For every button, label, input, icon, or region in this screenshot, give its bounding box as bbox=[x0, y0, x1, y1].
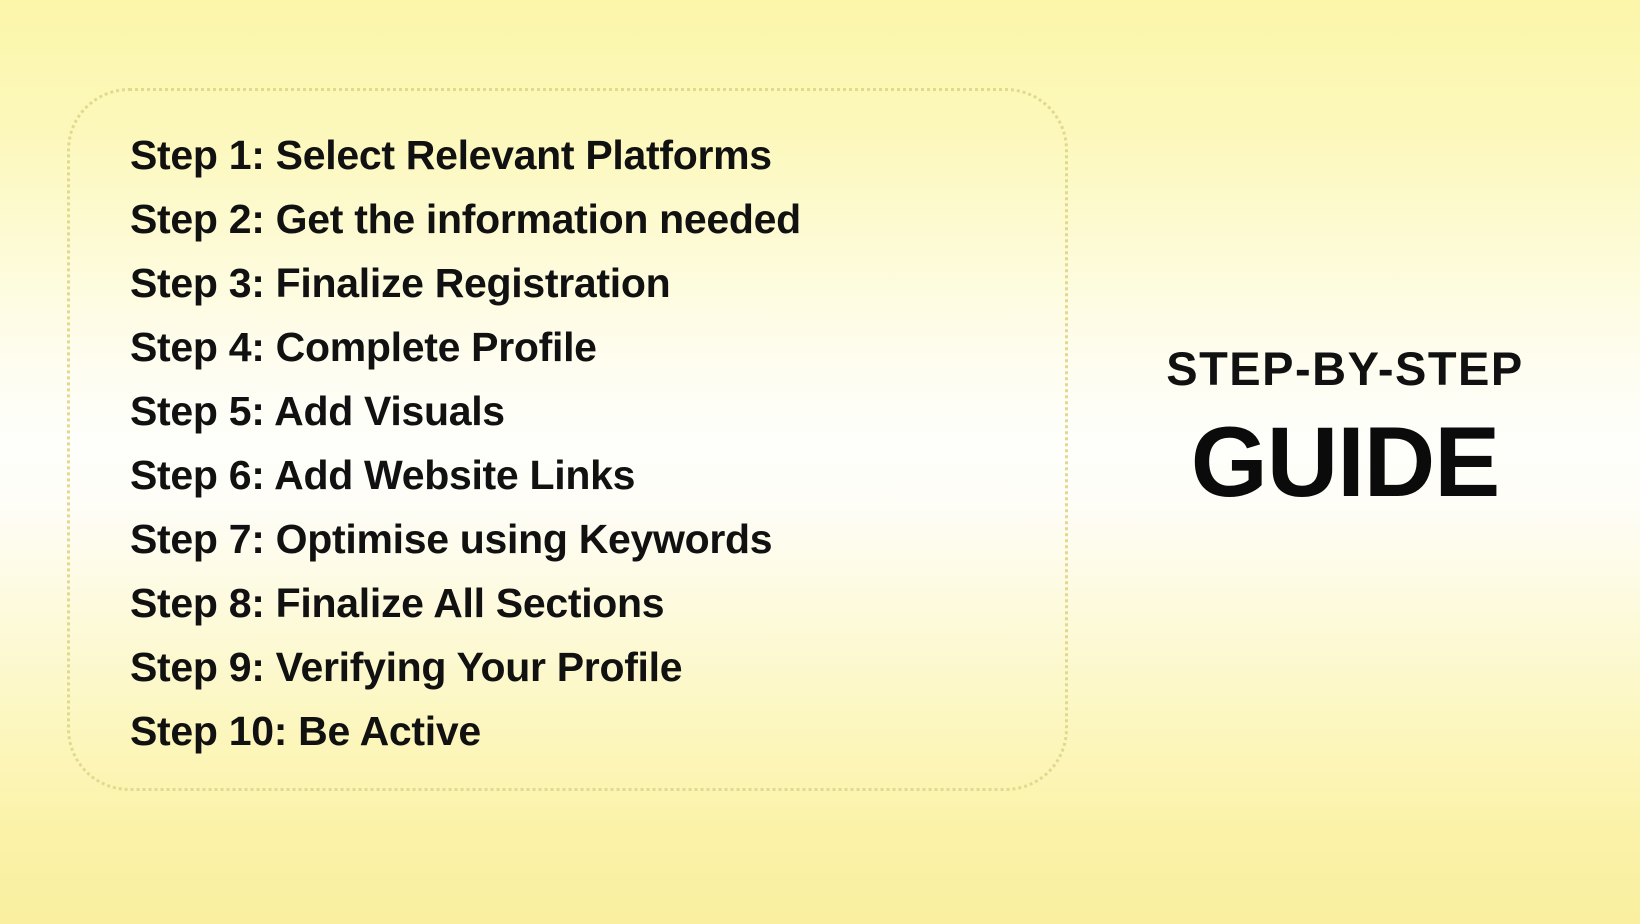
list-item: Step 8: Finalize All Sections bbox=[130, 571, 1065, 635]
page-subtitle: STEP-BY-STEP bbox=[1100, 345, 1590, 392]
page-title: GUIDE bbox=[1100, 412, 1590, 511]
list-item: Step 7: Optimise using Keywords bbox=[130, 507, 1065, 571]
guide-title-block: STEP-BY-STEP GUIDE bbox=[1100, 345, 1590, 511]
list-item: Step 6: Add Website Links bbox=[130, 443, 1065, 507]
list-item: Step 2: Get the information needed bbox=[130, 187, 1065, 251]
list-item: Step 1: Select Relevant Platforms bbox=[130, 123, 1065, 187]
list-item: Step 3: Finalize Registration bbox=[130, 251, 1065, 315]
list-item: Step 10: Be Active bbox=[130, 699, 1065, 763]
list-item: Step 9: Verifying Your Profile bbox=[130, 635, 1065, 699]
steps-panel: Step 1: Select Relevant Platforms Step 2… bbox=[67, 88, 1068, 791]
list-item: Step 5: Add Visuals bbox=[130, 379, 1065, 443]
list-item: Step 4: Complete Profile bbox=[130, 315, 1065, 379]
